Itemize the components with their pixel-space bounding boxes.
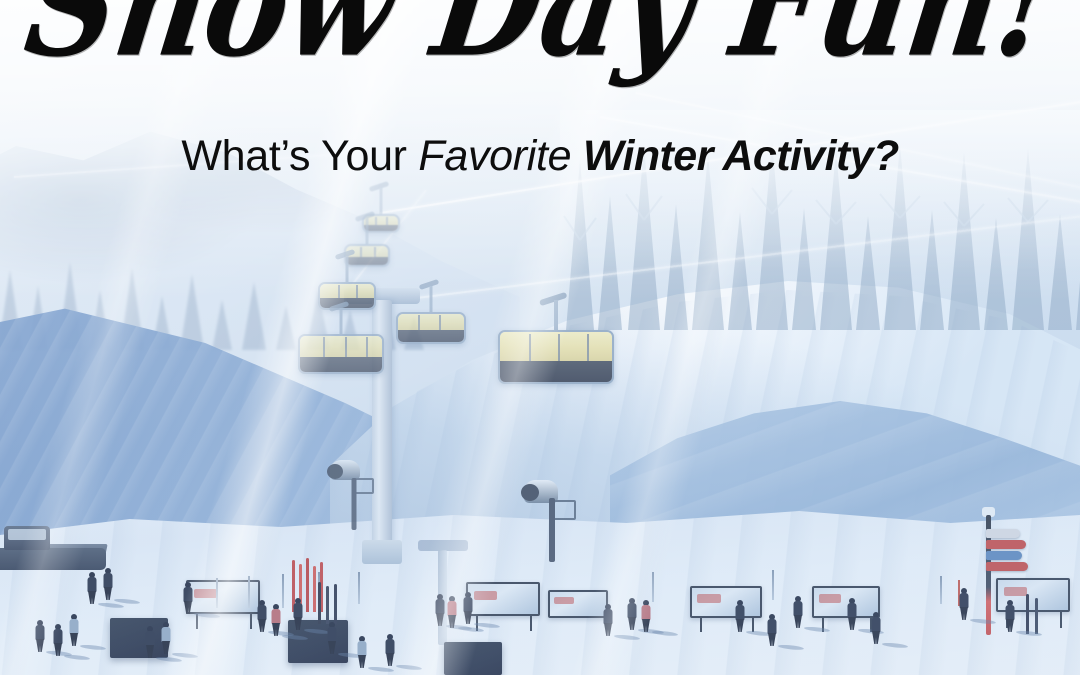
figure-torso	[1006, 605, 1015, 620]
gondola-bar	[338, 285, 340, 298]
figure-torso	[328, 627, 337, 642]
gondola-glass	[398, 314, 464, 330]
snow-cannon	[330, 452, 378, 532]
figure-torso	[146, 631, 155, 646]
chairlift-gondola	[498, 330, 614, 384]
gondola-bar	[375, 217, 377, 225]
gondola-bar	[366, 337, 368, 356]
fence-pole	[652, 572, 654, 602]
gondola-bar	[418, 315, 420, 330]
gondola-hanger	[554, 300, 558, 332]
ski-rack	[318, 580, 344, 624]
snow-cannon-post	[352, 478, 357, 530]
figure-torso	[88, 577, 97, 592]
figure-torso	[768, 619, 777, 634]
fence-pole	[248, 576, 250, 608]
ski-pole	[318, 582, 321, 624]
gondola-cabin	[396, 312, 466, 344]
gondola-bar	[323, 337, 325, 356]
figure-torso	[794, 601, 803, 616]
fence-pole	[772, 570, 774, 600]
snow-cannon-barrel	[327, 464, 343, 479]
snow-cannon-cage	[354, 478, 374, 494]
snow-cannon	[524, 472, 580, 568]
base-crate	[444, 642, 502, 675]
ski-rack	[1026, 590, 1052, 634]
figure-torso	[872, 617, 881, 632]
gondola-hanger	[380, 188, 383, 216]
gondola-glass	[500, 332, 612, 361]
fence-pole	[216, 578, 218, 608]
gondola-bar	[529, 334, 531, 361]
gondola-bar	[587, 334, 589, 361]
signpost-arm	[986, 562, 1028, 571]
figure-torso	[272, 609, 281, 624]
gondola-body	[500, 361, 612, 382]
figure-torso	[848, 603, 857, 618]
gondola-glass	[320, 284, 374, 298]
chairlift-gondola	[298, 334, 384, 374]
chairlift-gondola	[396, 312, 466, 344]
figure-torso	[258, 605, 267, 620]
ski-pole	[306, 558, 309, 612]
info-board-leg	[1060, 611, 1062, 628]
figure-torso	[70, 619, 79, 634]
gondola-bar	[345, 337, 347, 356]
gondola-cabin	[498, 330, 614, 384]
gondola-body	[300, 357, 382, 372]
info-board	[466, 582, 540, 616]
figure-torso	[386, 639, 395, 654]
gondola-glass	[300, 336, 382, 357]
figure-torso	[960, 593, 969, 608]
gondola-body	[398, 330, 464, 342]
snow-cannon-barrel	[521, 484, 539, 501]
gondola-hanger	[346, 256, 349, 284]
gondola-body	[364, 225, 398, 231]
info-board	[690, 586, 762, 618]
groomer-window	[8, 529, 46, 540]
snow-day-poster: Snow Day Fun! What’s Your Favorite Winte…	[0, 0, 1080, 675]
signpost-arm	[986, 551, 1022, 560]
fence-pole	[282, 574, 284, 608]
figure-torso	[436, 599, 445, 614]
figure-torso	[628, 603, 637, 618]
gondola-hanger	[430, 286, 433, 314]
figure-torso	[184, 587, 193, 602]
fence-pole	[358, 572, 360, 604]
ski-pole	[326, 586, 329, 624]
gondola-bar	[356, 285, 358, 298]
figure-torso	[464, 597, 473, 612]
gondola-bar	[558, 334, 560, 361]
signpost-arm	[986, 540, 1026, 549]
figure-torso	[294, 603, 303, 618]
figure-torso	[36, 625, 45, 640]
figure-torso	[448, 601, 457, 616]
gondola-body	[346, 257, 388, 265]
snow-cannon-post	[549, 498, 555, 562]
gondola-hanger	[340, 308, 343, 336]
signpost-arm	[986, 529, 1020, 538]
gondola-cabin	[298, 334, 384, 374]
snow-cannon-cage	[552, 500, 576, 520]
figure-torso	[736, 605, 745, 620]
ski-pole	[334, 584, 337, 624]
gondola-hanger	[366, 218, 369, 246]
chairlift-gondola	[344, 244, 390, 267]
lift-pylon-base	[362, 540, 402, 564]
info-board-leg	[250, 613, 252, 629]
gondola-bar	[360, 247, 362, 257]
figure-torso	[358, 641, 367, 656]
fence-pole	[940, 576, 942, 604]
gondola-bar	[386, 217, 388, 225]
info-board-leg	[752, 617, 754, 632]
info-board-leg	[530, 615, 532, 631]
gondola-bar	[439, 315, 441, 330]
base-crate	[110, 618, 168, 658]
figure-torso	[162, 627, 171, 642]
ski-pole	[313, 566, 316, 612]
figure-torso	[642, 605, 651, 620]
info-board	[812, 586, 880, 618]
info-board	[548, 590, 608, 618]
info-board-leg	[700, 617, 702, 632]
snow-groomer-vehicle	[0, 512, 106, 570]
ski-pole	[1026, 594, 1029, 634]
ski-pole	[1035, 598, 1038, 634]
figure-torso	[54, 629, 63, 644]
gondola-bar	[374, 247, 376, 257]
figure-torso	[604, 609, 613, 624]
figure-torso	[104, 573, 113, 588]
groomer-tracks	[0, 548, 106, 570]
gondola-cabin	[344, 244, 390, 267]
forest-haze-overlay	[560, 110, 1080, 270]
